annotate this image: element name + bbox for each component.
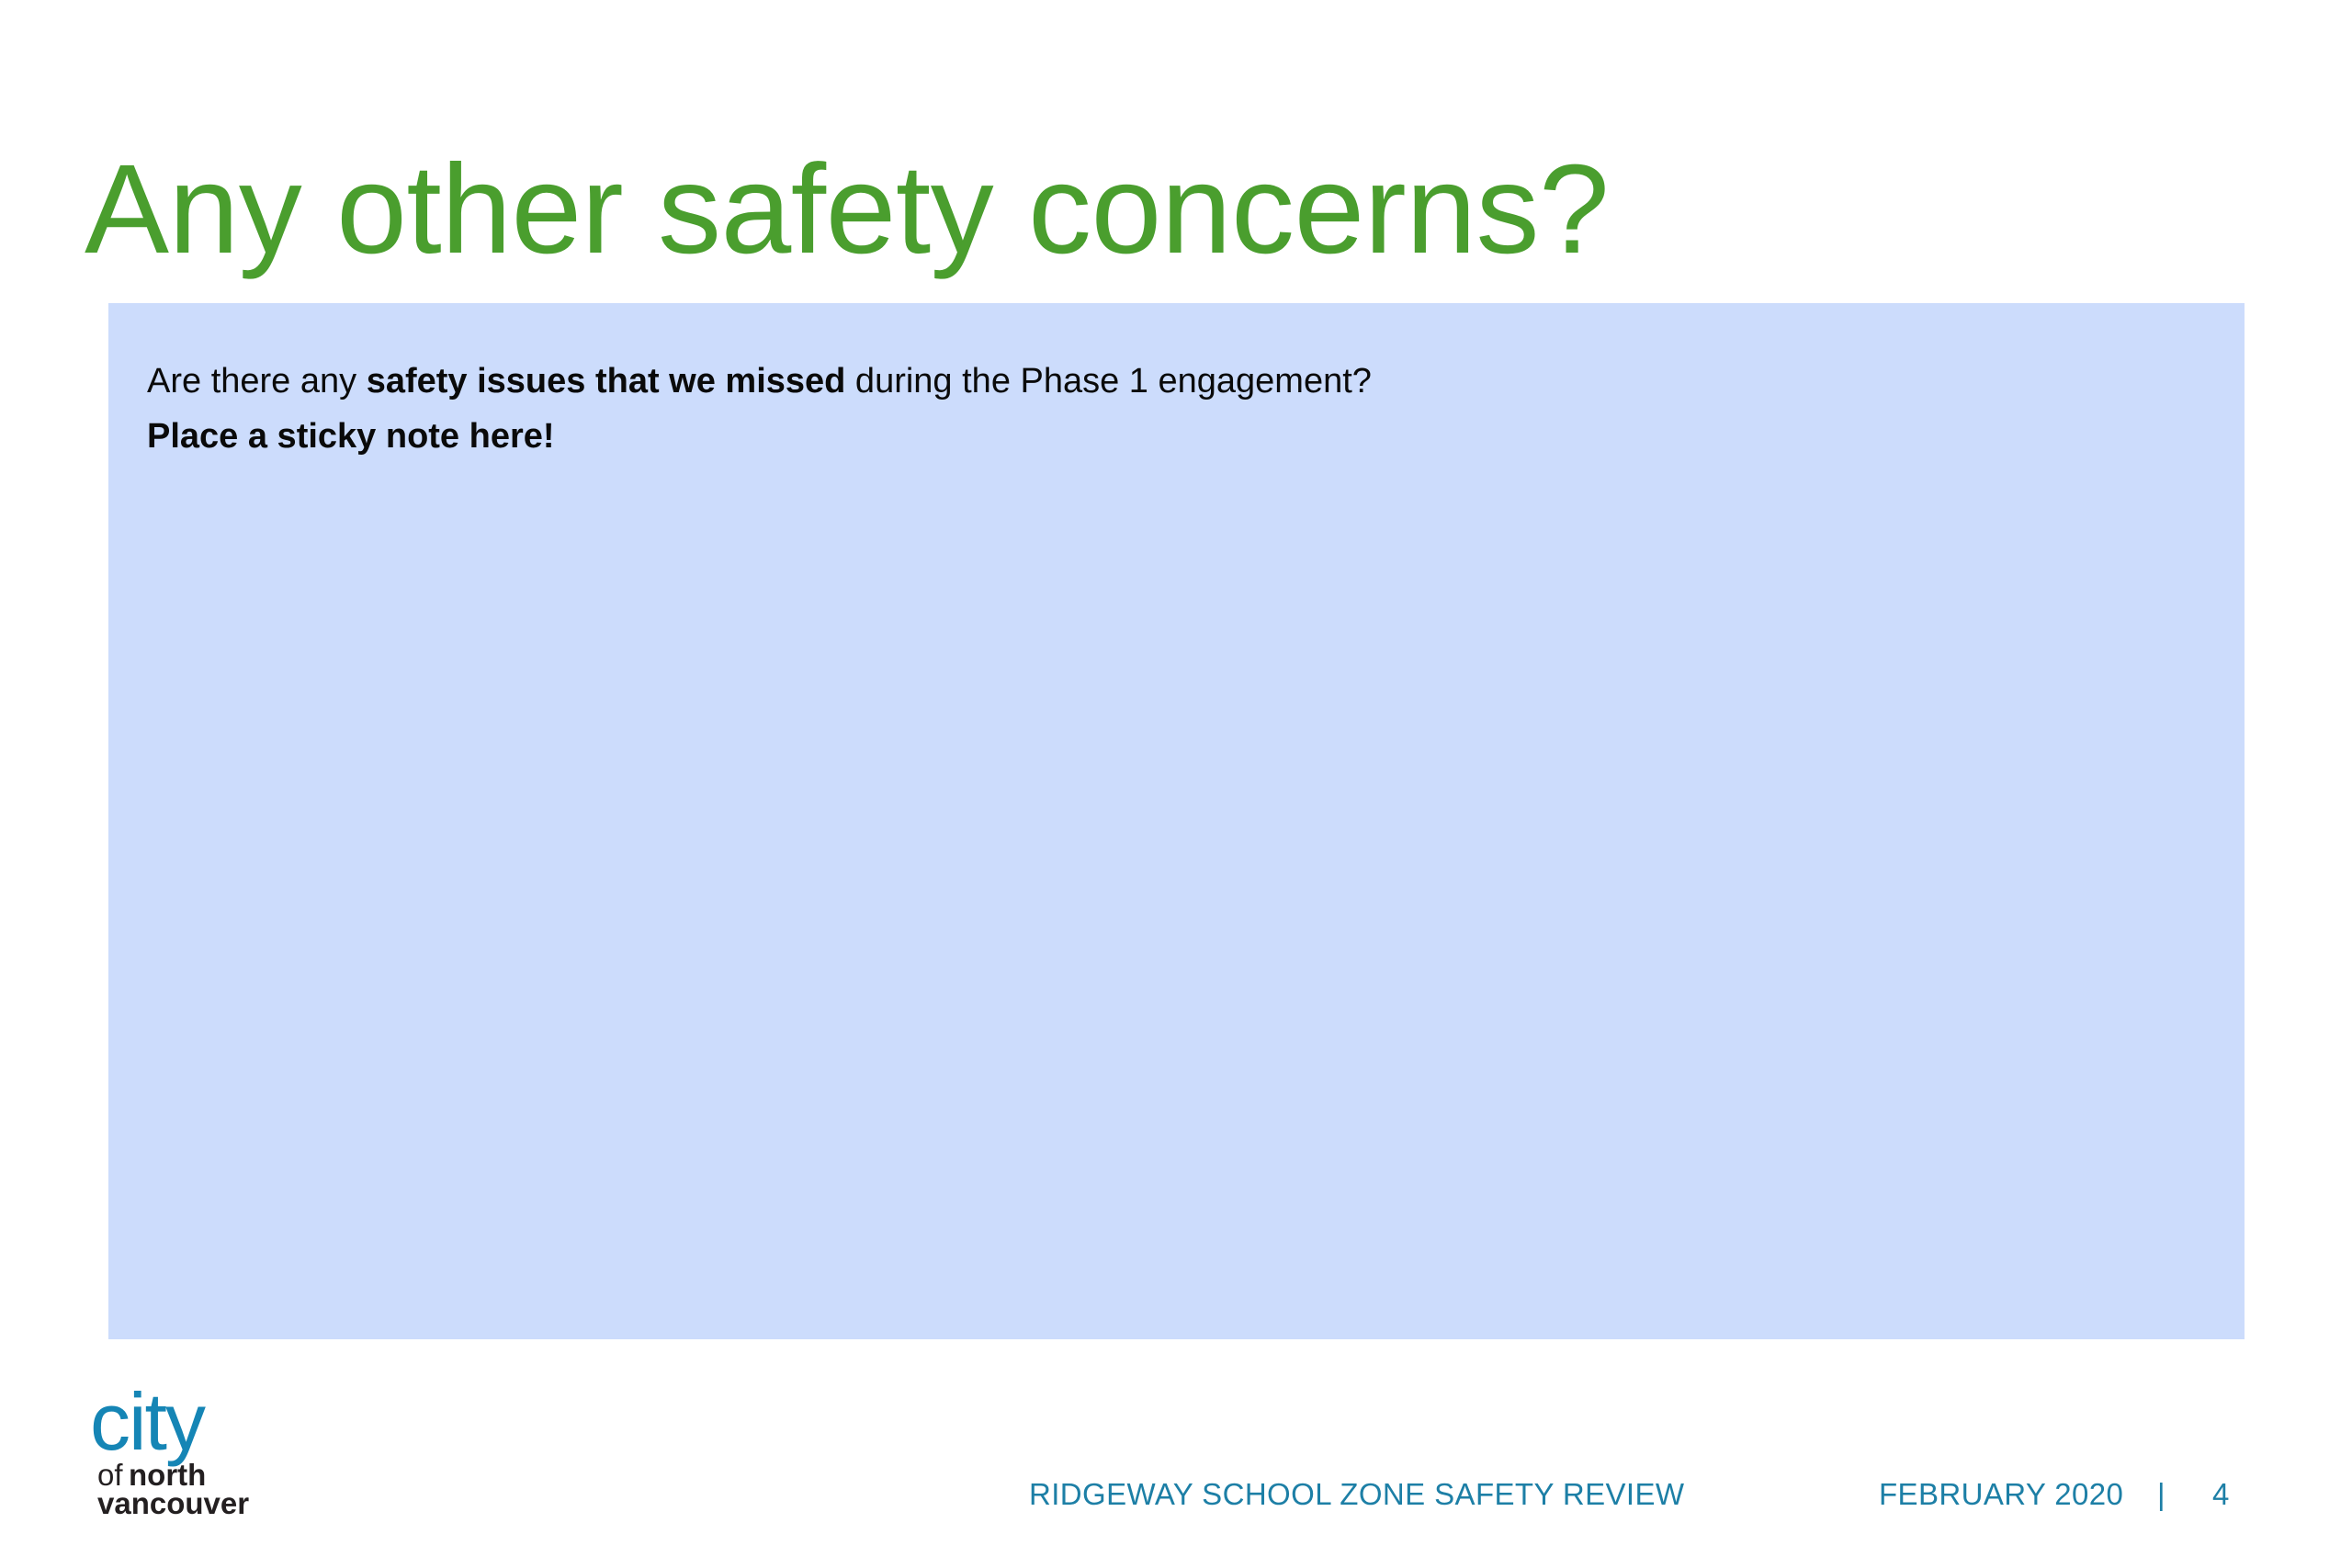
svg-text:city: city — [90, 1389, 206, 1467]
footer-separator: | — [2157, 1477, 2165, 1512]
question-emphasis: safety issues that we missed — [367, 362, 846, 400]
page-title: Any other safety concerns? — [85, 141, 2198, 278]
footer-page-number: 4 — [2212, 1477, 2230, 1512]
panel-question-text: Are there any safety issues that we miss… — [147, 356, 1372, 407]
sticky-note-panel[interactable]: Are there any safety issues that we miss… — [108, 303, 2245, 1339]
presentation-slide: Any other safety concerns? Are there any… — [0, 0, 2352, 1568]
slide-footer: RIDGEWAY SCHOOL ZONE SAFETY REVIEW FEBRU… — [0, 1477, 2352, 1529]
question-prefix: Are there any — [147, 362, 367, 400]
footer-date: FEBRUARY 2020 — [1879, 1477, 2123, 1512]
panel-instruction-text: Place a sticky note here! — [147, 412, 555, 462]
question-suffix: during the Phase 1 engagement? — [845, 362, 1372, 400]
footer-project-name: RIDGEWAY SCHOOL ZONE SAFETY REVIEW — [1029, 1477, 1684, 1512]
